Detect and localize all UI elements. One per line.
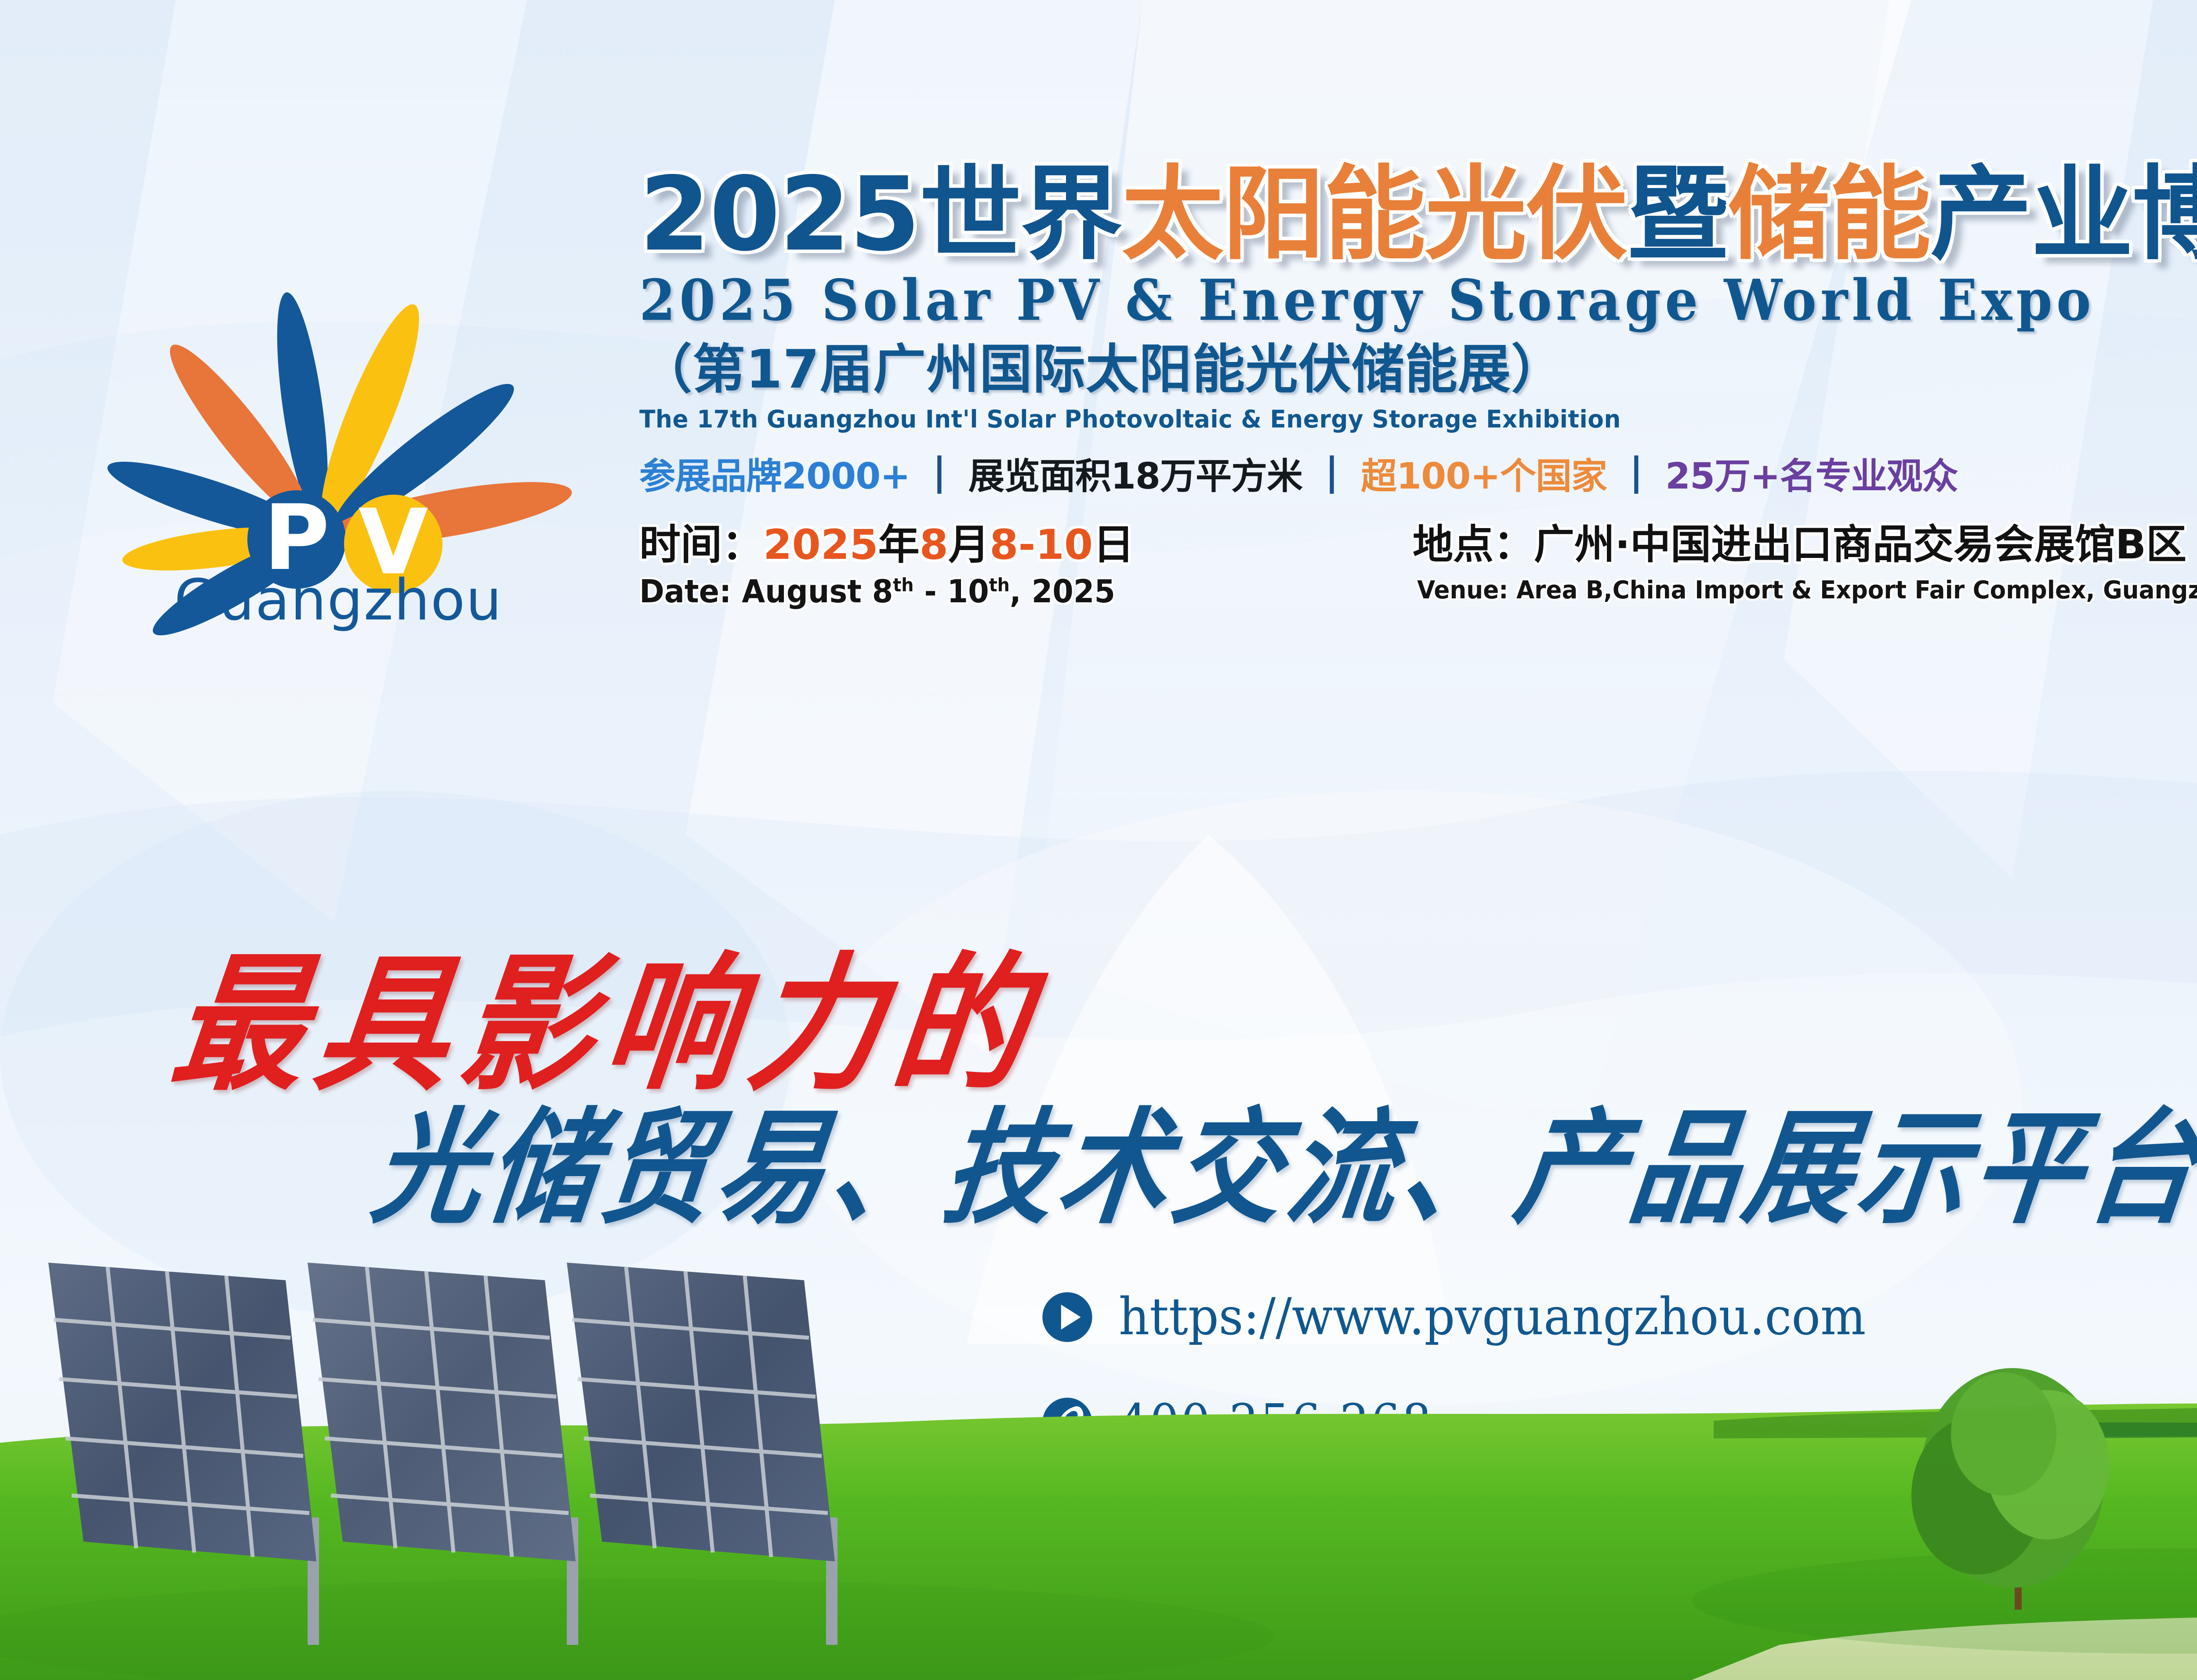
date-en-sup1: th	[893, 574, 914, 596]
logo-wordmark: Guangzhou	[174, 568, 503, 633]
scene-illustration	[0, 1214, 2197, 1680]
stats-separator-2: 丨	[1314, 456, 1349, 497]
page-title-english: 2025 Solar PV & Energy Storage World Exp…	[639, 272, 2197, 329]
stat-visitors: 25万+名专业观众	[1665, 459, 1958, 495]
date-month: 8	[920, 521, 948, 569]
date-day-unit: 日	[1093, 521, 1134, 569]
title-part-1: 2025世界	[639, 155, 1122, 274]
logo-pv-guangzhou: P V Guangzhou	[40, 171, 576, 628]
venue-english: Venue: Area B,China Import & Export Fair…	[1417, 576, 2197, 605]
page-subtitle-chinese: （第17届广州国际太阳能光伏储能展）	[639, 344, 2197, 396]
venue-value: 广州·中国进出口商品交易会展馆B区	[1534, 521, 2186, 568]
stat-exhibition-area: 展览面积18万平方米	[968, 459, 1302, 495]
title-part-3: 暨	[1627, 155, 1728, 274]
page-subtitle-english: The 17th Guangzhou Int'l Solar Photovolt…	[639, 405, 2197, 433]
solar-panel-1	[48, 1263, 316, 1561]
date-en-sup2: th	[989, 574, 1010, 596]
title-part-5: 产业博览会	[1930, 155, 2197, 274]
date-block: 时间：2025年8月8-10日 Date: August 8th - 10th,…	[639, 523, 1413, 610]
stat-countries: 超100+个国家	[1361, 459, 1607, 495]
stats-row: 参展品牌2000+丨展览面积18万平方米丨超100+个国家丨25万+名专业观众	[639, 459, 2197, 495]
venue-chinese: 地点：广州·中国进出口商品交易会展馆B区	[1413, 523, 2197, 566]
date-label: 时间：	[639, 521, 763, 569]
date-year-unit: 年	[878, 521, 920, 569]
date-chinese: 时间：2025年8月8-10日	[639, 523, 1413, 568]
date-venue-row: 时间：2025年8月8-10日 Date: August 8th - 10th,…	[639, 523, 2197, 610]
foreground-scene	[0, 1214, 2197, 1680]
logo-mark: P V Guangzhou	[40, 171, 576, 628]
stats-separator-1: 丨	[921, 456, 957, 497]
date-en-mid: - 10	[914, 573, 989, 610]
venue-label: 地点：	[1413, 521, 1534, 568]
date-year: 2025	[763, 521, 878, 569]
date-days: 8-10	[990, 521, 1093, 569]
date-en-prefix: Date: August 8	[639, 573, 893, 610]
title-part-4: 储能	[1728, 155, 1930, 274]
venue-block: 地点：广州·中国进出口商品交易会展馆B区 Venue: Area B,China…	[1413, 523, 2197, 605]
page-title: 2025世界太阳能光伏暨储能产业博览会	[639, 163, 2197, 265]
solar-panel-2	[308, 1263, 576, 1561]
stats-separator-3: 丨	[1618, 456, 1654, 497]
date-english: Date: August 8th - 10th, 2025	[639, 573, 1374, 610]
solar-panel-3	[567, 1263, 835, 1561]
date-month-unit: 月	[948, 521, 990, 569]
stat-exhibiting-brands: 参展品牌2000+	[639, 459, 910, 495]
header-block: 2025世界太阳能光伏暨储能产业博览会 2025 Solar PV & Ener…	[639, 163, 2197, 610]
date-en-suffix: , 2025	[1010, 573, 1115, 610]
title-part-2: 太阳能光伏	[1122, 155, 1627, 274]
